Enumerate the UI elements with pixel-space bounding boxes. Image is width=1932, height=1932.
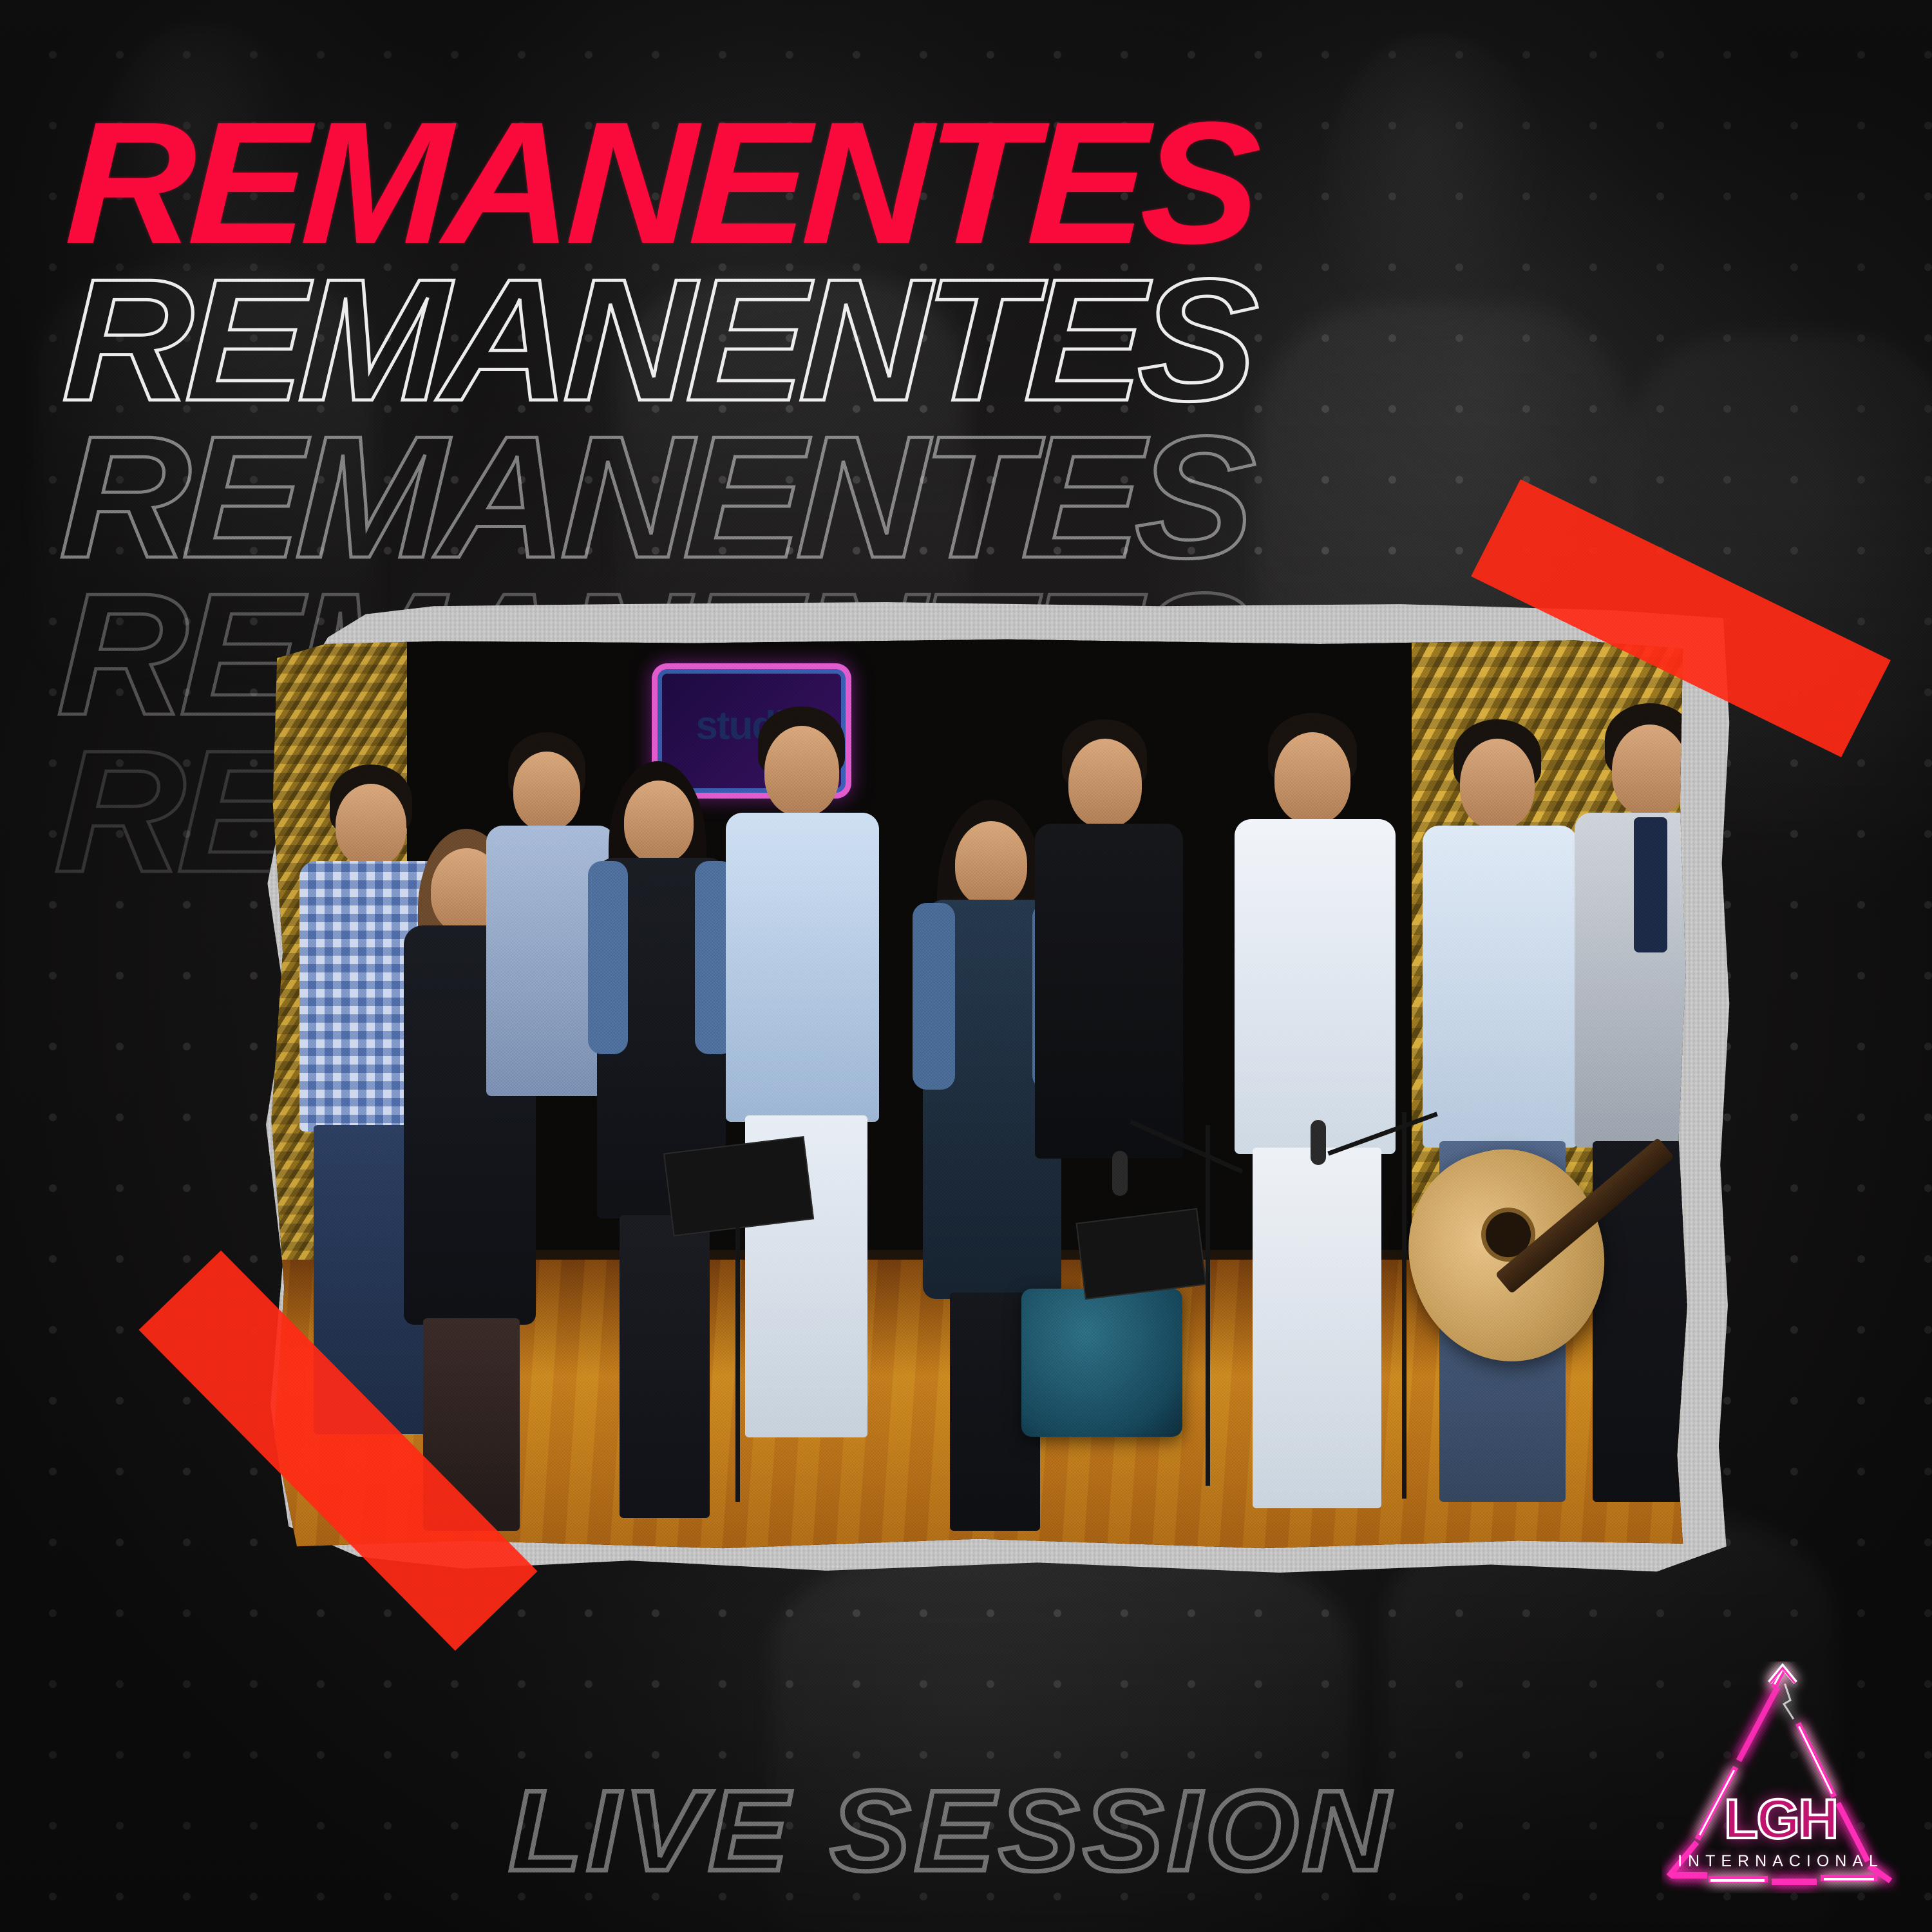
microphone-1 [1112,1151,1128,1196]
photo-frame: studio [222,602,1732,1607]
microphone-2 [1311,1120,1326,1165]
poster-canvas: REMANENTES REMANENTES REMANENTES REMANEN… [0,0,1932,1932]
music-stand-pole [735,1225,740,1502]
mic-stand-pole-1 [1206,1125,1210,1486]
music-stand-sheet [663,1136,814,1236]
mic-stand-pole-2 [1402,1112,1406,1499]
lgh-logo-tagline: INTERNACIONAL [1662,1852,1900,1871]
lgh-logo-wordmark: LGH [1662,1788,1900,1851]
live-session-subtitle: LIVE SESSION [509,1765,1394,1897]
drum-kit [1021,1289,1182,1437]
music-stand-sheet-2 [1075,1208,1206,1300]
lgh-logo[interactable]: LGH INTERNACIONAL [1662,1662,1900,1893]
band-photo: studio [269,636,1689,1567]
